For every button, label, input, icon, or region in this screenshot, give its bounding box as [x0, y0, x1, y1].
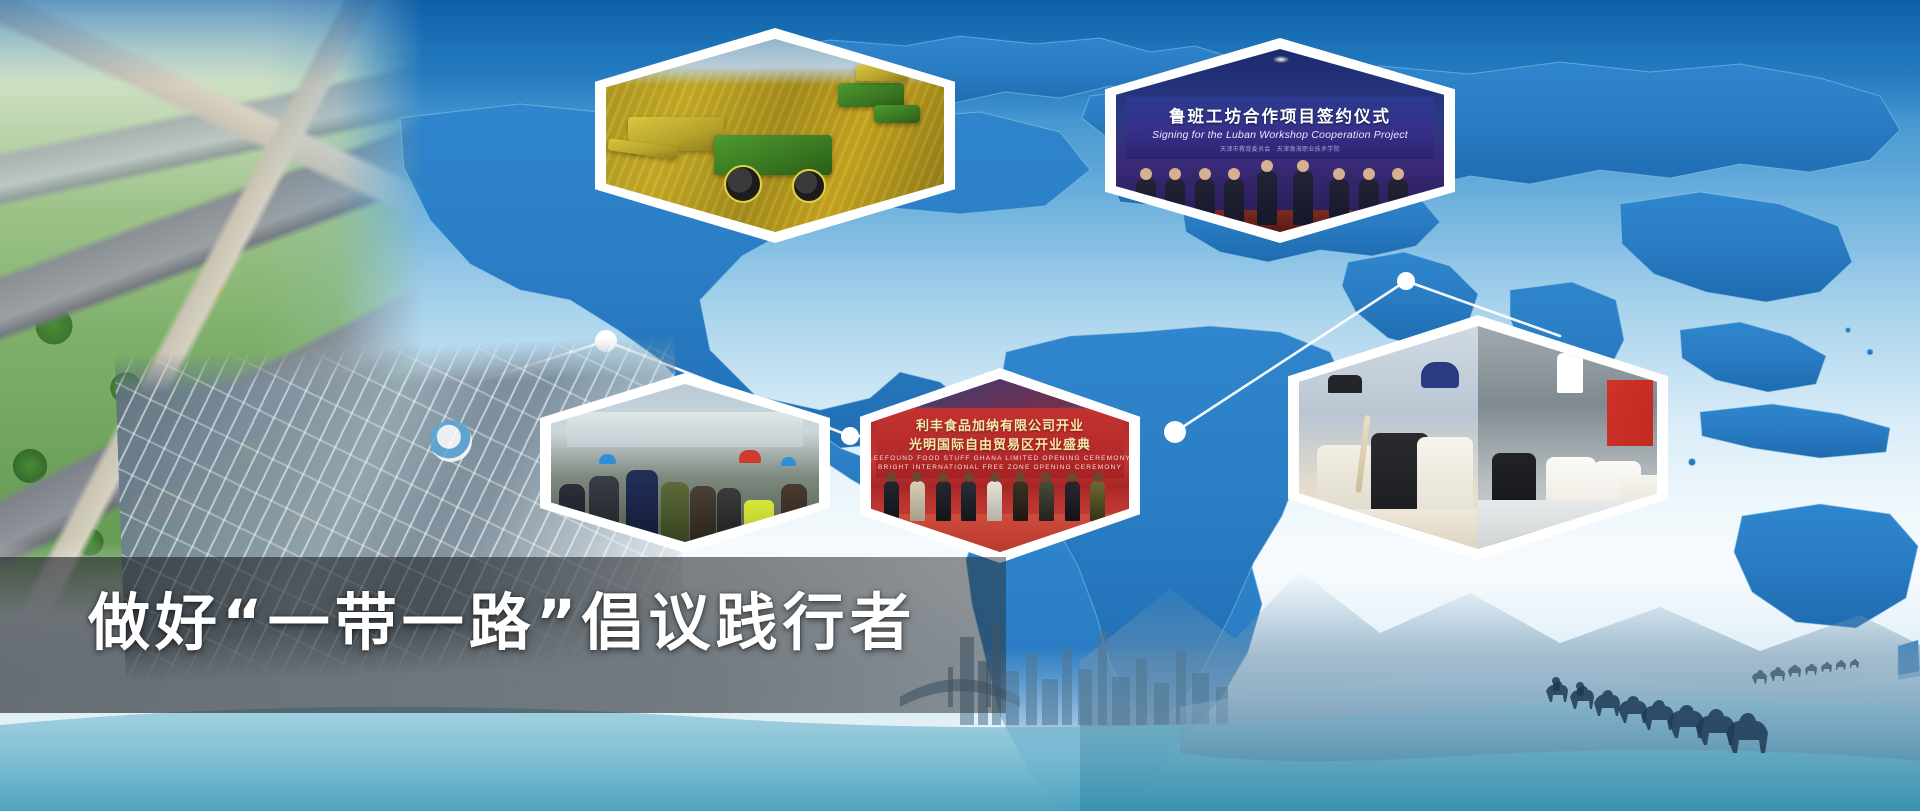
attendee-3 [1195, 179, 1215, 225]
stage-light-3 [1273, 56, 1289, 63]
signatory-1 [1257, 171, 1277, 225]
luban-banner-english: Signing for the Luban Workshop Cooperati… [1152, 129, 1408, 141]
china-flag-icon [1607, 380, 1654, 447]
camel-caravan-silhouette [1490, 639, 1920, 769]
ghana-banner-english-2: BRIGHT INTERNATIONAL FREE ZONE OPENING C… [878, 464, 1122, 471]
ghana-guest-1 [884, 481, 899, 521]
visitor-3 [661, 482, 689, 542]
ghana-guest-3 [936, 481, 951, 521]
visitor-5 [717, 488, 741, 542]
luban-banner-sub: 天津市教育委员会 · 天津渤海职业技术学院 [1220, 144, 1340, 153]
ghana-guest-8 [1065, 481, 1080, 521]
ghana-stage: 利丰食品加纳有限公司开业 光明国际自由贸易区开业盛典 LEEFOUND FOOD… [871, 379, 1129, 552]
agriculture-field [606, 39, 944, 232]
blue-helmet-icon [599, 454, 616, 464]
tall-chef-hat-icon [1557, 353, 1583, 393]
luban-photo-inner: 鲁班工坊合作项目签约仪式 Signing for the Luban Works… [1116, 49, 1444, 232]
combine-harvester-2 [856, 65, 908, 81]
ghana-guest-6 [1013, 481, 1028, 521]
ghana-backdrop-board: 利丰食品加纳有限公司开业 光明国际自由贸易区开业盛典 LEEFOUND FOOD… [876, 408, 1124, 477]
official-lead [626, 470, 658, 542]
luban-stage: 鲁班工坊合作项目签约仪式 Signing for the Luban Works… [1116, 49, 1444, 232]
site-visit-photo-inner [551, 384, 819, 542]
signatory-2 [1293, 171, 1313, 225]
ghana-guest-9 [1090, 481, 1105, 521]
blue-hairnet-icon [1421, 362, 1459, 388]
attendee-5 [1329, 179, 1349, 225]
red-helmet-icon [739, 450, 761, 463]
chef-cap-icon [1328, 375, 1362, 393]
culinary-photo-inner [1299, 326, 1657, 549]
blue-helmet-icon-2 [781, 457, 796, 466]
ghana-guest-5 [987, 481, 1002, 521]
ghana-banner-english-1: LEEFOUND FOOD STUFF GHANA LIMITED OPENIN… [871, 455, 1129, 462]
page-title: 做好“一带一路”倡议践行者 [88, 586, 917, 659]
greenhouse-emblem-icon [430, 420, 472, 462]
tractor-3 [874, 105, 920, 123]
site-building [567, 412, 803, 447]
banner-stage: 鲁班工坊合作项目签约仪式 Signing for the Luban Works… [0, 0, 1920, 811]
tractor-wheel-2 [792, 169, 826, 203]
luban-backdrop-board: 鲁班工坊合作项目签约仪式 Signing for the Luban Works… [1126, 97, 1434, 159]
tractor-wheel-1 [724, 165, 762, 203]
stage-light-4 [1332, 56, 1348, 63]
stage-light-2 [1214, 56, 1230, 63]
ghana-guest-2 [910, 481, 925, 521]
ghana-banner-chinese-1: 利丰食品加纳有限公司开业 [916, 415, 1084, 434]
agriculture-photo-inner [606, 39, 944, 232]
luban-banner-chinese: 鲁班工坊合作项目签约仪式 [1169, 103, 1391, 127]
camel-caravan-svg [1490, 639, 1920, 769]
culinary-scene [1299, 326, 1657, 549]
ghana-guest-4 [961, 481, 976, 521]
tractor-2 [838, 83, 904, 107]
attendee-4 [1224, 179, 1244, 225]
site-visit-scene [551, 384, 819, 542]
ghana-photo-inner: 利丰食品加纳有限公司开业 光明国际自由贸易区开业盛典 LEEFOUND FOOD… [871, 379, 1129, 552]
ghana-guest-7 [1039, 481, 1054, 521]
ghana-banner-chinese-2: 光明国际自由贸易区开业盛典 [909, 434, 1091, 453]
visitor-4 [690, 486, 716, 542]
